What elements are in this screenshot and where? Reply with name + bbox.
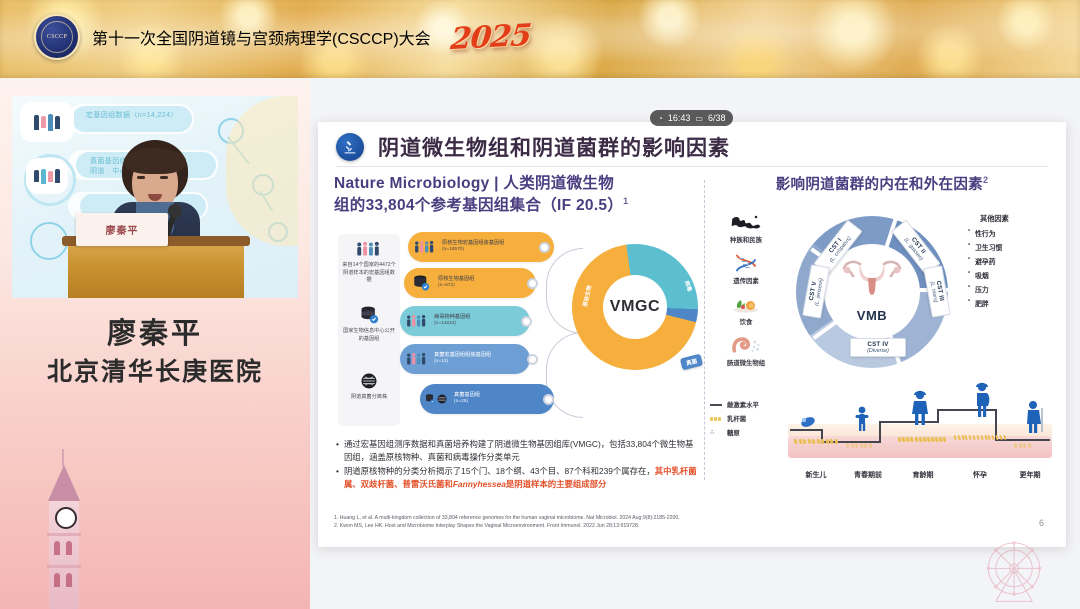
- pill-label: 病毒物种基因组: [434, 314, 470, 320]
- stage-label: 新生儿: [790, 470, 842, 480]
- pill-text: 真菌宏基因组组装基因组 (n=13): [434, 352, 491, 366]
- source-label: 来自14个国家的4472个阴道样本的宏基因组数据: [338, 262, 400, 285]
- chart-plot-area: 新生儿 青春期前 育龄期 怀孕 更年期: [788, 376, 1052, 480]
- bullet-highlight-italic: Fannyhessea: [453, 479, 506, 489]
- database-icon: [409, 272, 433, 294]
- factor-label: 饮食: [712, 317, 780, 326]
- speaker-video[interactable]: 宏基因组数据（n=14,224） 真菌基因组 阴道 · 中心: [12, 96, 298, 298]
- nameplate-text: 廖秦平: [106, 222, 139, 237]
- left-heading-line1: Nature Microbiology | 人类阴道微生物: [334, 175, 614, 192]
- figure-pill: 原核生物宏基因组装基因组 (n=18570): [408, 232, 554, 262]
- people-icon: [405, 310, 429, 332]
- app-root: CSCCP 第十一次全国阴道镜与宫颈病理学(CSCCP)大会 2025 宏基因组…: [0, 0, 1080, 609]
- other-factor-label: 肥胖: [975, 298, 989, 308]
- factor-item: 种族和民族: [712, 210, 780, 244]
- slide-count-icon: ▭: [695, 114, 703, 123]
- lactobacillus-band: [898, 437, 946, 442]
- connector-node: [543, 394, 554, 405]
- right-heading: 影响阴道菌群的内在和外在因素2: [710, 174, 1054, 195]
- pill-label: 原核生物基因组: [438, 276, 474, 282]
- banner-title: 第十一次全国阴道镜与宫颈病理学(CSCCP)大会: [92, 25, 431, 49]
- source-item: 国家生物信息中心公开的基因组: [338, 304, 400, 343]
- source-item: 来自14个国家的4472个阴道样本的宏基因组数据: [338, 238, 400, 285]
- cst-species: (Diverse): [855, 348, 901, 354]
- reference-list: 1. Huang L, et al. A multi-kingdom colle…: [334, 514, 924, 530]
- lifecycle-chart: 雌激素水平 乳杆菌 ∴ 糖原: [710, 370, 1054, 488]
- figure-pill: 原核生物基因组 (n=672): [404, 268, 536, 298]
- legend-label: 乳杆菌: [727, 414, 746, 423]
- people-icon: [356, 238, 382, 260]
- lactobacillus-icon: [710, 417, 722, 421]
- reference-item: 2. Kwon MS, Lee HK. Host and Microbiome …: [334, 522, 924, 530]
- factor-label: 种族和民族: [712, 235, 780, 244]
- right-heading-sup: 2: [983, 175, 988, 185]
- stage-label: 怀孕: [954, 470, 1006, 480]
- csccp-logo-icon: CSCCP: [34, 14, 80, 60]
- bullet-item: • 通过宏基因组测序数据和真菌培养构建了阴道微生物基因组库(VMGC)，包括33…: [336, 438, 700, 463]
- menopause-figure-icon: [1024, 400, 1044, 434]
- people-group-icon: [26, 158, 68, 194]
- intestine-icon: [729, 333, 763, 357]
- figure-pill: 病毒物种基因组 (n=14224): [400, 306, 530, 336]
- other-factors-title: 其他因素: [980, 214, 1052, 224]
- people-group-icon: [20, 102, 74, 142]
- clock-icon: ◔: [658, 114, 663, 123]
- pill-label: 真菌宏基因组组装基因组: [434, 352, 491, 358]
- figure-pill: 真菌基因组 (n=25): [420, 384, 554, 414]
- pill-text: 原核生物宏基因组装基因组 (n=18570): [442, 240, 504, 254]
- pill-text: 原核生物基因组 (n=672): [438, 276, 474, 290]
- bullet-dot: •: [968, 256, 970, 266]
- cst-code: CST IV: [855, 341, 901, 348]
- database-fungus-icon: [425, 388, 449, 410]
- pregnancy-figure-icon: [972, 382, 992, 418]
- status-badge: ◔ 16:43 ▭ 6/38: [650, 110, 733, 126]
- legend-row: ∴ 糖原: [710, 428, 784, 437]
- badge-time: 16:43: [668, 113, 691, 123]
- pill-count: (n=25): [454, 399, 480, 406]
- bullet-plain: 阴道原核物种的分类分析揭示了15个门、18个纲、43个目、87个科和239个属存…: [344, 466, 655, 476]
- other-factor-label: 压力: [975, 284, 989, 294]
- uterus-icon: [840, 256, 904, 298]
- bullet-text: 阴道原核物种的分类分析揭示了15个门、18个纲、43个目、87个科和239个属存…: [344, 465, 700, 490]
- legend-label: 糖原: [727, 428, 740, 437]
- clock-tower-decoration: [44, 449, 84, 609]
- source-item: 阴道真菌分离株: [338, 370, 400, 402]
- bullet-item: • 阴道原核物种的分类分析揭示了15个门、18个纲、43个目、87个科和239个…: [336, 465, 700, 490]
- cst-label: CST IV (Diverse): [850, 338, 906, 357]
- pill-count: (n=14224): [434, 321, 470, 328]
- connector-node: [539, 242, 550, 253]
- lactobacillus-band: [794, 439, 838, 444]
- speaker-info: 廖秦平 北京清华长庚医院: [0, 316, 310, 389]
- lactobacillus-band: [1014, 443, 1048, 448]
- banner-year: 2025: [449, 17, 532, 56]
- pill-count: (n=18570): [442, 247, 504, 254]
- csccp-logo-text: CSCCP: [47, 34, 67, 40]
- connector-node: [527, 354, 538, 365]
- vmgc-donut-chart: VMGC: [572, 244, 698, 370]
- pill-count: (n=672): [438, 283, 474, 290]
- factor-item: 肠道微生物组: [712, 333, 780, 367]
- donut-center-label: VMGC: [610, 298, 660, 316]
- other-factor-label: 避孕药: [975, 256, 995, 266]
- other-factor-item: •卫生习惯: [968, 242, 1052, 252]
- stage-label: 更年期: [1008, 470, 1052, 480]
- slide-right-column: 影响阴道菌群的内在和外在因素2 种: [710, 174, 1054, 494]
- dna-icon: [729, 251, 763, 275]
- conference-banner: CSCCP 第十一次全国阴道镜与宫颈病理学(CSCCP)大会 2025: [0, 0, 1080, 78]
- badge-page: 6/38: [708, 113, 726, 123]
- bullet-highlight-tail: 是阴道样本的主要组成部分: [506, 479, 607, 489]
- arc-label-fungus: 真菌: [680, 354, 703, 371]
- slide-left-column: Nature Microbiology | 人类阴道微生物 组的33,804个参…: [334, 174, 702, 494]
- bullet-dot: •: [968, 284, 970, 294]
- bullet-dot: •: [968, 298, 970, 308]
- prepuberty-figure-icon: [854, 406, 870, 432]
- connector-node: [527, 278, 538, 289]
- lactobacillus-band: [954, 435, 1006, 440]
- other-factors-list: 其他因素 •性行为 •卫生习惯 •避孕药 •吸烟 •压力 •肥胖: [968, 214, 1052, 312]
- speaker-hair-front: [124, 148, 186, 174]
- pill-count: (n=13): [434, 359, 491, 366]
- tower-clock-icon: [55, 507, 77, 529]
- connector-node: [521, 316, 532, 327]
- reference-item: 1. Huang L, et al. A multi-kingdom colle…: [334, 514, 924, 522]
- other-factor-item: •压力: [968, 284, 1052, 294]
- database-icon: [356, 304, 382, 326]
- legend-row: 乳杆菌: [710, 414, 784, 423]
- speaker-panel: 宏基因组数据（n=14,224） 真菌基因组 阴道 · 中心: [0, 78, 310, 609]
- bg-text: 宏基因组数据（n=14,224）: [86, 110, 178, 120]
- other-factor-item: •性行为: [968, 228, 1052, 238]
- left-bullets: • 通过宏基因组测序数据和真菌培养构建了阴道微生物基因组库(VMGC)，包括33…: [336, 438, 700, 492]
- left-heading: Nature Microbiology | 人类阴道微生物 组的33,804个参…: [334, 174, 702, 217]
- source-label: 阴道真菌分离株: [338, 394, 400, 402]
- bullet-dot: •: [336, 465, 339, 490]
- speaker-name: 廖秦平: [0, 316, 310, 352]
- bullet-text: 通过宏基因组测序数据和真菌培养构建了阴道微生物基因组库(VMGC)，包括33,8…: [344, 438, 700, 463]
- speaker-eye: [160, 176, 168, 179]
- vmgc-figure: 来自14个国家的4472个阴道样本的宏基因组数据 国家生物信息中心公开的基因组: [334, 228, 702, 438]
- slide-page-number: 6: [1039, 518, 1044, 528]
- reproductive-age-figure-icon: [910, 390, 930, 426]
- pill-label: 原核生物宏基因组装基因组: [442, 240, 504, 246]
- figure-pill: 真菌宏基因组组装基因组 (n=13): [400, 344, 530, 374]
- vmb-wheel: VMB CST I (L. crispatus) CST II (L. gass…: [796, 216, 948, 368]
- bullet-dot: •: [968, 228, 970, 238]
- speaker-eye: [137, 176, 145, 179]
- intrinsic-factor-column: 种族和民族 遗传因素: [712, 210, 780, 374]
- stage-label: 育龄期: [898, 470, 948, 480]
- lactobacillus-band: [846, 443, 890, 448]
- bullet-dot: •: [968, 270, 970, 280]
- ferris-wheel-decoration: [958, 541, 1070, 605]
- other-factor-label: 卫生习惯: [975, 242, 1002, 252]
- source-label: 国家生物信息中心公开的基因组: [338, 328, 400, 343]
- right-heading-text: 影响阴道菌群的内在和外在因素: [776, 177, 983, 193]
- other-factor-item: •避孕药: [968, 256, 1052, 266]
- speaker-organization: 北京清华长庚医院: [0, 356, 310, 389]
- header-divider: [336, 166, 1048, 167]
- pill-text: 病毒物种基因组 (n=14224): [434, 314, 470, 328]
- stage-label: 青春期前: [840, 470, 896, 480]
- presentation-slide[interactable]: 阴道微生物组和阴道菌群的影响因素 Nature Microbiology | 人…: [318, 122, 1066, 547]
- pill-label: 真菌基因组: [454, 392, 480, 398]
- left-heading-sup: 1: [623, 196, 628, 206]
- factor-label: 肠道微生物组: [712, 358, 780, 367]
- estrogen-line-icon: [710, 404, 722, 406]
- slide-header: 阴道微生物组和阴道菌群的影响因素: [318, 122, 1066, 170]
- podium: [68, 244, 244, 298]
- speaker-nameplate: 廖秦平: [76, 213, 168, 246]
- other-factor-label: 吸烟: [975, 270, 989, 280]
- food-icon: [729, 292, 763, 316]
- newborn-figure-icon: [800, 416, 816, 428]
- bullet-dot: •: [336, 438, 339, 463]
- factor-item: 遗传因素: [712, 251, 780, 285]
- legend-row: 雌激素水平: [710, 400, 784, 409]
- other-factor-item: •吸烟: [968, 270, 1052, 280]
- vmb-figure: 种族和民族 遗传因素: [710, 208, 1054, 384]
- banner-content: CSCCP 第十一次全国阴道镜与宫颈病理学(CSCCP)大会 2025: [34, 14, 530, 60]
- factor-label: 遗传因素: [712, 276, 780, 285]
- other-factor-item: •肥胖: [968, 298, 1052, 308]
- microscope-icon: [336, 133, 364, 161]
- fungus-icon: [356, 370, 382, 392]
- factor-item: 饮食: [712, 292, 780, 326]
- legend-label: 雌激素水平: [727, 400, 759, 409]
- left-heading-line2: 组的33,804个参考基因组集合（IF 20.5）: [334, 197, 623, 214]
- people-icon: [405, 348, 429, 370]
- other-factor-label: 性行为: [975, 228, 995, 238]
- people-icon: [413, 236, 437, 258]
- column-divider: [704, 180, 705, 480]
- pill-text: 真菌基因组 (n=25): [454, 392, 480, 406]
- world-map-icon: [729, 210, 763, 234]
- chart-legend: 雌激素水平 乳杆菌 ∴ 糖原: [710, 400, 784, 442]
- bullet-dot: •: [968, 242, 970, 252]
- slide-title: 阴道微生物组和阴道菌群的影响因素: [378, 132, 730, 162]
- glycogen-icon: ∴: [710, 429, 722, 436]
